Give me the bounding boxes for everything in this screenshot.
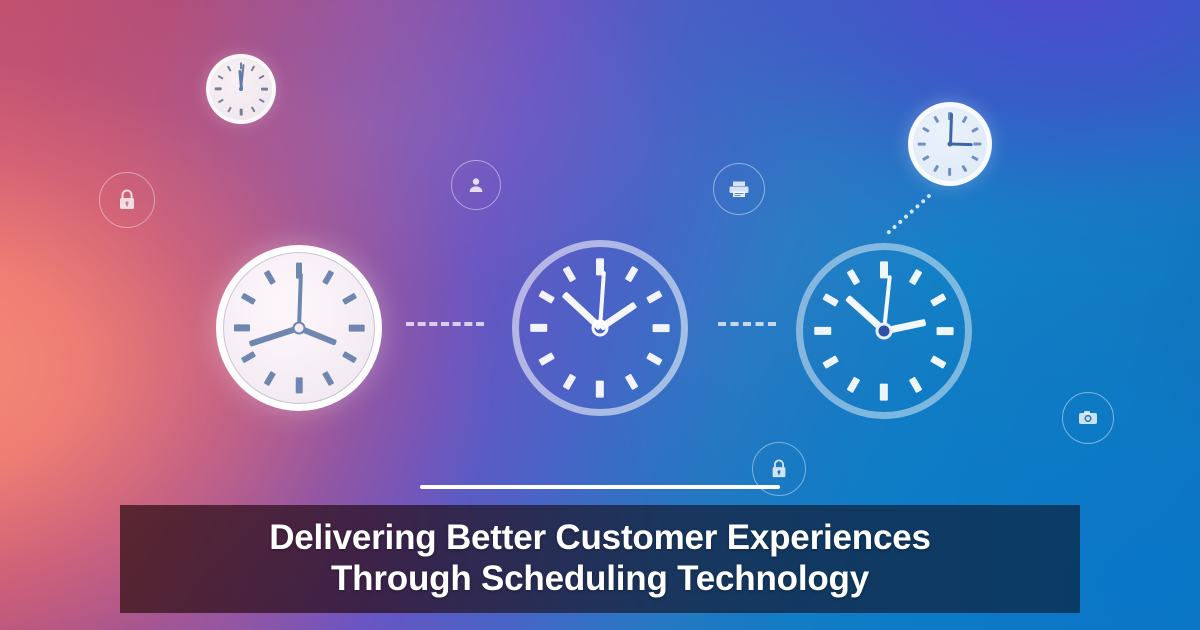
clock-tick xyxy=(342,293,357,305)
clock-tick xyxy=(624,374,638,390)
clock-middle-outline xyxy=(512,240,688,416)
clock-tick xyxy=(653,324,670,332)
clock-tick xyxy=(322,270,334,285)
clock-tick xyxy=(974,142,982,145)
clock-tick xyxy=(240,109,243,116)
clock-tick xyxy=(250,65,255,71)
clock-tick xyxy=(562,266,576,282)
clock-tick xyxy=(922,127,929,133)
clock-tick xyxy=(822,355,838,369)
clock-tick xyxy=(264,371,276,386)
clock-tick xyxy=(918,142,926,145)
clock-tick xyxy=(930,293,946,307)
clock-tick xyxy=(217,75,223,80)
clock-tick xyxy=(241,293,256,305)
dashed-connector-left xyxy=(406,322,484,326)
clock-center-pin xyxy=(876,323,893,340)
camera-icon xyxy=(1077,409,1099,427)
lock-icon xyxy=(116,188,138,212)
clock-right-outline xyxy=(796,243,972,419)
clock-tick xyxy=(846,377,860,393)
clock-tick xyxy=(930,355,946,369)
clock-tick xyxy=(908,377,922,393)
promo-banner-image: Delivering Better Customer Experiences T… xyxy=(0,0,1200,630)
clock-tick xyxy=(922,155,929,161)
clock-tick xyxy=(342,351,357,363)
clock-tick xyxy=(880,384,888,401)
clock-tick xyxy=(227,106,232,112)
clock-tick xyxy=(227,65,232,71)
clock-tick xyxy=(846,269,860,285)
clock-tick xyxy=(971,127,978,133)
clock-center-pin xyxy=(293,322,306,335)
clock-tick xyxy=(596,381,604,398)
user-icon xyxy=(466,175,486,195)
clock-tick xyxy=(217,98,223,103)
clock-tick xyxy=(933,116,939,123)
lock-icon-badge-left xyxy=(99,172,155,228)
lock-icon xyxy=(769,458,789,480)
clock-tick xyxy=(961,116,967,123)
clock-tick xyxy=(937,327,954,335)
clock-tick xyxy=(933,165,939,172)
camera-icon-badge xyxy=(1062,392,1114,444)
clock-tick xyxy=(241,351,256,363)
clock-tick xyxy=(250,106,255,112)
clock-tick xyxy=(348,325,364,332)
clock-tick xyxy=(562,374,576,390)
clock-tick xyxy=(214,88,221,91)
page-title: Delivering Better Customer Experiences T… xyxy=(257,518,943,599)
clock-center-pin xyxy=(239,87,243,91)
user-icon-badge xyxy=(451,160,501,210)
clock-tick xyxy=(822,293,838,307)
clock-small-top-left xyxy=(206,54,276,124)
dashed-connector-right xyxy=(718,322,776,326)
clock-tick xyxy=(538,352,554,366)
title-divider-rule xyxy=(420,485,780,489)
clock-tick xyxy=(538,290,554,304)
clock-tick xyxy=(908,269,922,285)
clock-tick xyxy=(624,266,638,282)
clock-left-filled xyxy=(216,245,382,411)
page-title-line-1: Delivering Better Customer Experiences xyxy=(269,518,931,559)
clock-tick xyxy=(646,290,662,304)
title-banner: Delivering Better Customer Experiences T… xyxy=(120,505,1080,613)
clock-tick xyxy=(264,270,276,285)
clock-tick xyxy=(646,352,662,366)
clock-tick xyxy=(322,371,334,386)
clock-tick xyxy=(948,168,951,176)
clock-tick xyxy=(971,155,978,161)
clock-tick xyxy=(961,165,967,172)
clock-tick xyxy=(234,325,250,332)
clock-tick xyxy=(261,88,268,91)
clock-tick xyxy=(814,327,831,335)
clock-tick xyxy=(258,98,264,103)
clock-small-top-right xyxy=(908,102,992,186)
clock-tick xyxy=(530,324,547,332)
printer-icon-badge xyxy=(713,163,765,215)
clock-center-pin xyxy=(948,142,953,147)
clock-tick xyxy=(296,377,303,393)
page-title-line-2: Through Scheduling Technology xyxy=(269,559,931,600)
clock-tick xyxy=(258,75,264,80)
clock-center-pin xyxy=(592,320,609,337)
printer-icon xyxy=(727,179,751,199)
